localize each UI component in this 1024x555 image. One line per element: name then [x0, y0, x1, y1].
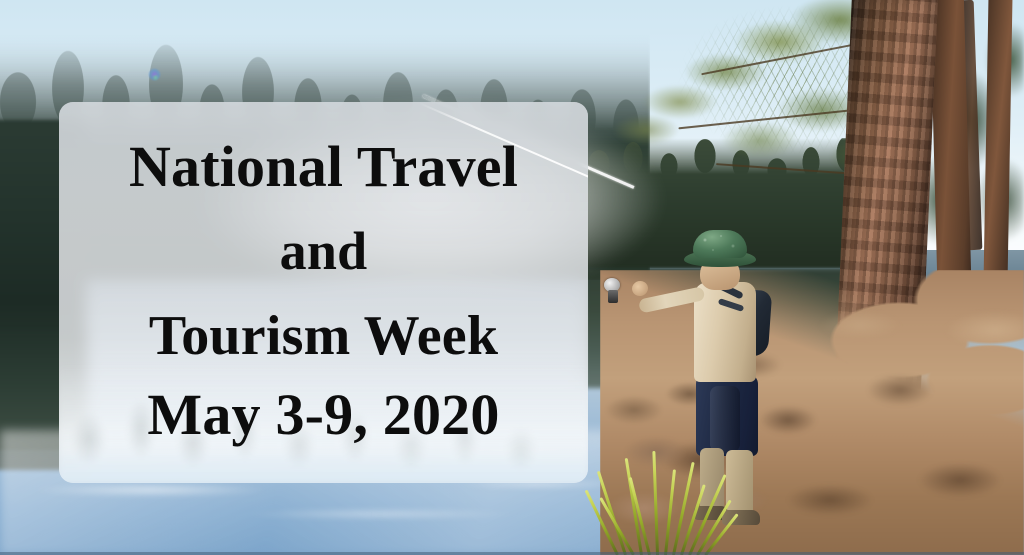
grass-tuft	[610, 440, 730, 555]
reel-stem	[608, 290, 618, 303]
grass-blade	[652, 451, 658, 555]
lens-flare-secondary-icon	[152, 74, 159, 81]
poster-title-line-3: Tourism Week	[149, 308, 498, 364]
poster-date-line: May 3-9, 2020	[147, 386, 499, 444]
text-overlay-card: National Travel and Tourism Week May 3-9…	[59, 102, 588, 483]
poster-title-line-2: and	[280, 224, 368, 278]
grass-blade	[625, 458, 643, 555]
poster-title-line-1: National Travel	[129, 138, 518, 196]
travel-week-poster: National Travel and Tourism Week May 3-9…	[0, 0, 1024, 555]
leg-front	[726, 450, 753, 516]
bucket-hat-pattern	[693, 230, 747, 260]
